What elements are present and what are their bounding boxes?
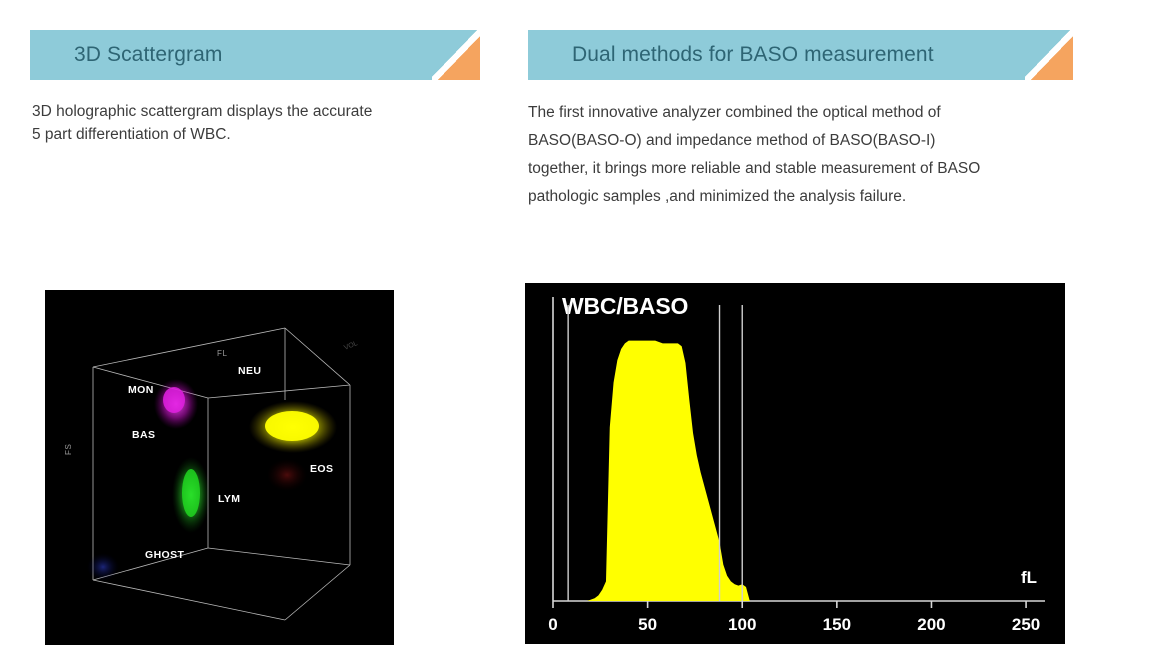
axis-label-fl: FL: [217, 349, 228, 358]
left-banner: 3D Scattergram: [30, 30, 480, 80]
left-body-line-2: 5 part differentiation of WBC.: [32, 123, 482, 146]
cluster-label-neu: NEU: [238, 365, 261, 377]
cluster-eos-points: [267, 459, 307, 491]
banner-corner-wedge-icon: [1025, 30, 1073, 80]
left-banner-title: 3D Scattergram: [74, 43, 222, 67]
left-panel: 3D Scattergram 3D holographic scattergra…: [0, 0, 510, 663]
left-body-line-1: 3D holographic scattergram displays the …: [32, 100, 482, 123]
right-body-line-1: The first innovative analyzer combined t…: [528, 99, 1088, 127]
right-body-line-2: BASO(BASO-O) and impedance method of BAS…: [528, 127, 1088, 155]
right-panel: Dual methods for BASO measurement The fi…: [510, 0, 1150, 663]
cluster-label-bas: BAS: [132, 429, 155, 441]
cluster-lym-points: [172, 457, 210, 533]
x-tick-label-50: 50: [638, 615, 657, 634]
cluster-mon-points: [154, 379, 198, 429]
wbc-baso-histogram: WBC/BASO 050100150200250 fL: [525, 283, 1065, 644]
scattergram-svg: FL FS VOL MON NEU: [45, 290, 394, 645]
right-body-text: The first innovative analyzer combined t…: [528, 99, 1088, 211]
right-body-line-3: together, it brings more reliable and st…: [528, 155, 1088, 183]
x-tick-label-200: 200: [917, 615, 945, 634]
histogram-figure: WBC/BASO 050100150200250 fL: [525, 283, 1065, 644]
cluster-label-eos: EOS: [310, 463, 333, 475]
cluster-label-mon: MON: [128, 384, 154, 396]
cluster-label-ghost: GHOST: [145, 549, 185, 561]
banner-corner-wedge-icon: [432, 30, 480, 80]
cluster-label-lym: LYM: [218, 493, 240, 505]
right-banner-title: Dual methods for BASO measurement: [572, 43, 934, 67]
x-axis-unit-label: fL: [1021, 568, 1037, 587]
scattergram-figure: FL FS VOL MON NEU: [45, 290, 394, 645]
x-tick-label-150: 150: [823, 615, 851, 634]
right-body-line-4: pathologic samples ,and minimized the an…: [528, 183, 1088, 211]
x-tick-label-250: 250: [1012, 615, 1040, 634]
cluster-neu-points: [249, 401, 337, 453]
cluster-ghost-points: [87, 553, 119, 581]
x-tick-label-0: 0: [548, 615, 557, 634]
axis-label-fs: FS: [64, 444, 73, 455]
left-body-text: 3D holographic scattergram displays the …: [32, 100, 482, 146]
x-tick-label-100: 100: [728, 615, 756, 634]
right-banner: Dual methods for BASO measurement: [528, 30, 1073, 80]
histogram-title: WBC/BASO: [562, 293, 688, 319]
